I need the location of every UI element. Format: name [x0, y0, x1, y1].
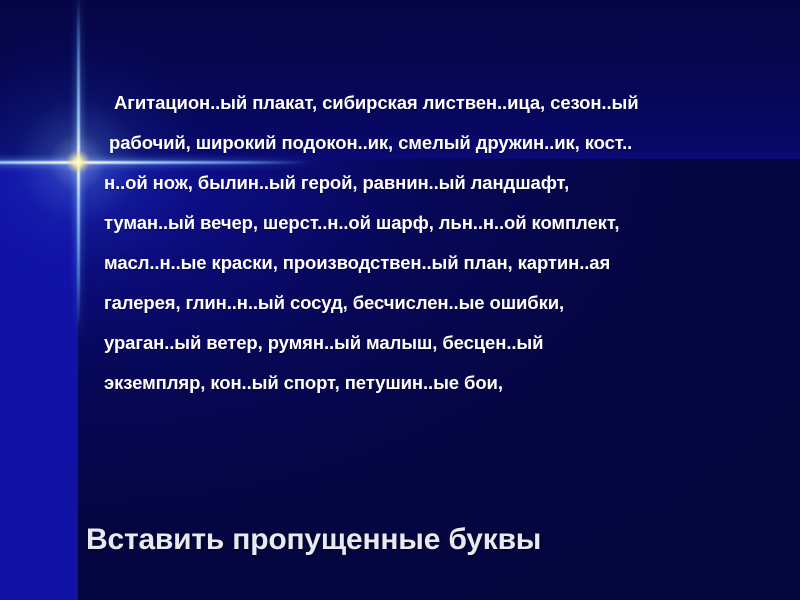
- body-line: ураган..ый ветер, румян..ый малыш, бесце…: [104, 323, 800, 363]
- body-line: масл..н..ые краски, производствен..ый пл…: [104, 243, 800, 283]
- body-line: экземпляр, кон..ый спорт, петушин..ые бо…: [104, 363, 800, 403]
- body-line: Агитацион..ый плакат, сибирская листвен.…: [104, 83, 800, 123]
- slide-title: Вставить пропущенные буквы: [86, 523, 541, 557]
- body-line: н..ой нож, былин..ый герой, равнин..ый л…: [104, 163, 800, 203]
- body-line: рабочий, широкий подокон..ик, смелый дру…: [104, 123, 800, 163]
- presentation-slide: Агитацион..ый плакат, сибирская листвен.…: [0, 0, 800, 600]
- body-line: галерея, глин..н..ый сосуд, бесчислен..ы…: [104, 283, 800, 323]
- slide-body-text: Агитацион..ый плакат, сибирская листвен.…: [104, 83, 800, 403]
- body-line: туман..ый вечер, шерст..н..ой шарф, льн.…: [104, 203, 800, 243]
